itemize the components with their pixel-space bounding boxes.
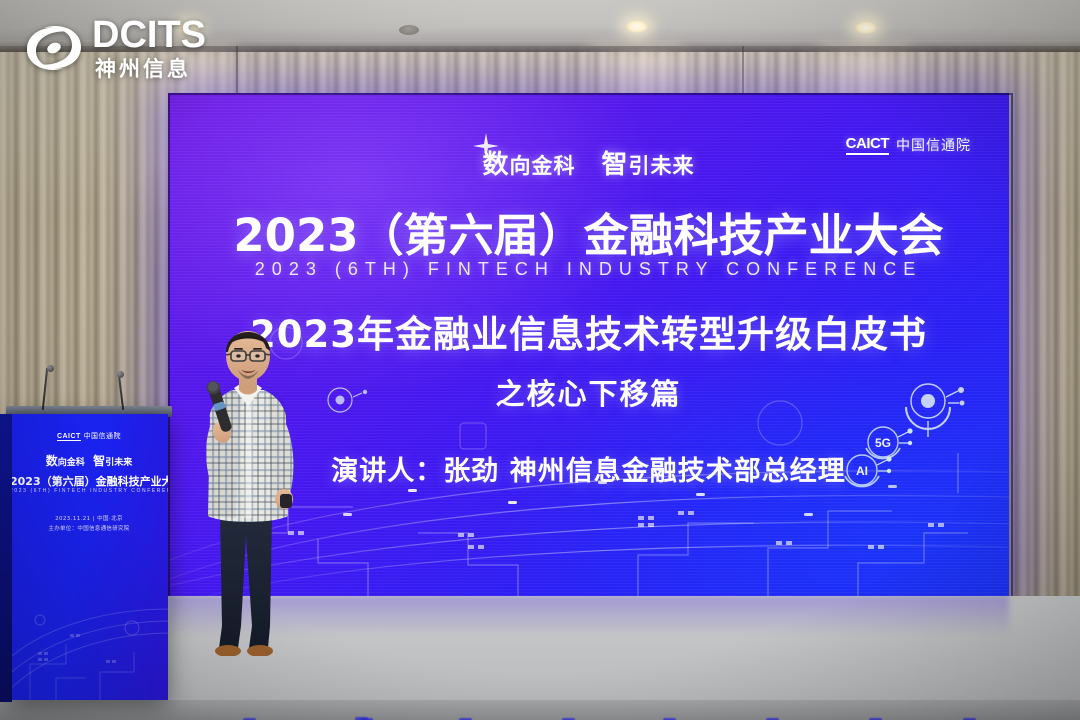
watermark-brand-en: DCITS	[92, 16, 206, 54]
svg-text:AI: AI	[856, 464, 868, 478]
podium-panel: CAICT 中国信通院 数向金科 智引未来 2023（第六届）金融科技产业大会 …	[10, 414, 168, 700]
podium-tagline-rest-1: 向金科	[58, 458, 85, 468]
ceiling-vent-icon	[399, 25, 419, 35]
microphone-head-icon	[117, 371, 124, 378]
speaker-person	[186, 326, 312, 656]
podium-caict-cn: 中国信通院	[84, 432, 122, 440]
podium-organizer-line: 主办单位：中国信息通信研究院	[10, 524, 168, 532]
ceiling-downlight-icon	[855, 21, 877, 34]
podium-tagline-char-2: 智	[93, 454, 105, 468]
conference-title-en: 2023 (6TH) FINTECH INDUSTRY CONFERENCE	[168, 259, 1009, 280]
podium-tagline: 数向金科 智引未来	[10, 452, 168, 469]
podium-conference-title-cn: 2023（第六届）金融科技产业大会	[10, 473, 168, 489]
podium-caict-en: CAICT	[57, 433, 81, 441]
tagline-char-1: 数	[482, 150, 509, 180]
podium-tagline-rest-2: 引未来	[105, 458, 132, 468]
stage-front-edge	[0, 700, 1080, 720]
badge-ai: AI	[841, 448, 893, 499]
conference-stage-photo: DCITS 神州信息	[0, 0, 1080, 720]
podium-caict-logo: CAICT 中国信通院	[10, 431, 168, 441]
conference-tagline: 数向金科智引未来	[168, 144, 1009, 181]
microphone-head-icon	[47, 365, 54, 372]
dcits-swirl-icon	[22, 20, 86, 76]
badge-ai-icon: AI	[841, 448, 893, 494]
tagline-char-2: 智	[602, 150, 629, 180]
conference-title-cn: 2023（第六届）金融科技产业大会	[168, 199, 1009, 264]
dcits-watermark-logo: DCITS 神州信息	[22, 16, 206, 80]
podium-date-line: 2023.11.21 | 中国·北京	[10, 514, 168, 522]
watermark-brand-cn: 神州信息	[95, 59, 206, 80]
tagline-rest-1: 向金科	[510, 154, 576, 178]
tagline-rest-2: 引未来	[629, 154, 695, 178]
podium-side-panel	[0, 414, 12, 702]
podium-conference-title-en: 2023 (6TH) FINTECH INDUSTRY CONFERENCE	[10, 488, 168, 494]
ceiling-downlight-icon	[626, 20, 648, 33]
podium-tagline-char-1: 数	[46, 454, 58, 468]
